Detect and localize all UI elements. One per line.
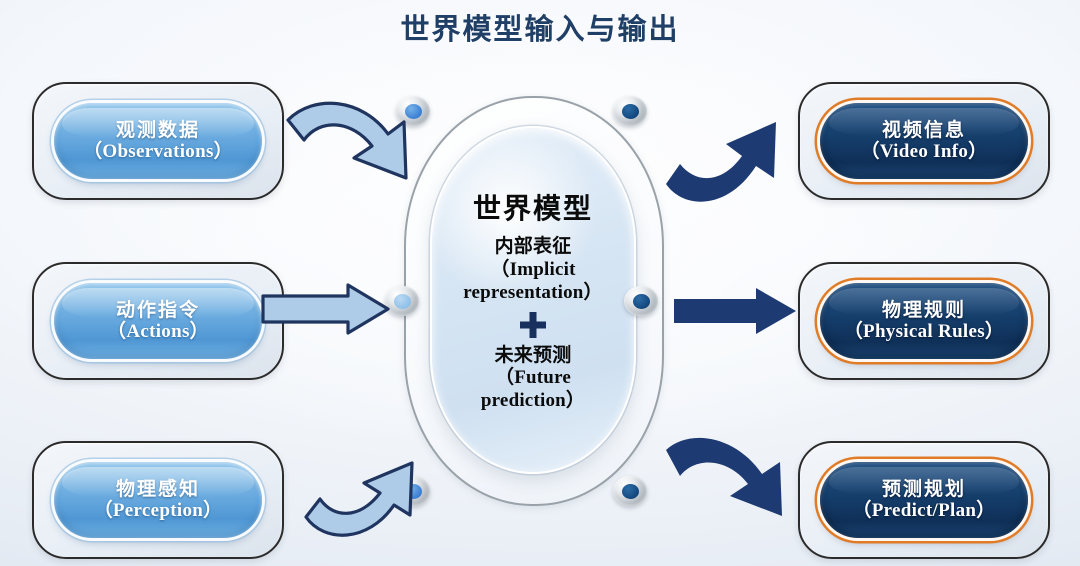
arrow-model-to-physical-rules <box>672 286 798 336</box>
input-box-actions[interactable]: 动作指令 （Actions） <box>32 262 284 380</box>
input-pill-perception: 物理感知 （Perception） <box>54 462 262 538</box>
capsule-implicit-en2: representation） <box>463 282 603 305</box>
plus-icon <box>518 310 548 340</box>
arrow-perception-to-model <box>302 455 430 545</box>
capsule-implicit-en1: （Implicit <box>490 259 575 282</box>
arrow-model-to-predict-plan <box>664 436 798 524</box>
input-label-cn: 观测数据 <box>116 120 200 141</box>
input-label-en: （Observations） <box>83 141 233 162</box>
output-box-physical-rules[interactable]: 物理规则 （Physical Rules） <box>798 262 1050 380</box>
diagram-canvas: 世界模型输入与输出 观测数据 （Observations） 动作指令 （Acti… <box>0 0 1080 566</box>
capsule-future-en2: prediction） <box>481 390 585 413</box>
input-box-observations[interactable]: 观测数据 （Observations） <box>32 82 284 200</box>
capsule-future-en1: （Future <box>495 367 571 390</box>
output-label-cn: 预测规划 <box>882 479 966 500</box>
input-label-cn: 动作指令 <box>116 300 200 321</box>
input-label-cn: 物理感知 <box>116 479 200 500</box>
input-pill-actions: 动作指令 （Actions） <box>54 283 262 359</box>
arrow-actions-to-model <box>260 283 392 335</box>
capsule-node-bottom-right <box>613 476 647 506</box>
capsule-future-cn: 未来预测 <box>495 345 572 368</box>
capsule-inner: 世界模型 内部表征 （Implicit representation） 未来预测… <box>430 126 636 474</box>
output-label-en: （Video Info） <box>861 141 988 162</box>
input-pill-observations: 观测数据 （Observations） <box>54 103 262 179</box>
capsule-node-middle-right <box>624 286 658 316</box>
output-label-en: （Physical Rules） <box>844 321 1005 342</box>
output-pill-physical-rules: 物理规则 （Physical Rules） <box>820 283 1028 359</box>
arrow-observations-to-model <box>284 96 424 188</box>
output-label-en: （Predict/Plan） <box>852 500 995 521</box>
input-label-en: （Actions） <box>107 321 209 342</box>
page-title: 世界模型输入与输出 <box>0 6 1080 48</box>
input-box-perception[interactable]: 物理感知 （Perception） <box>32 441 284 559</box>
output-box-video-info[interactable]: 视频信息 （Video Info） <box>798 82 1050 200</box>
output-pill-video-info: 视频信息 （Video Info） <box>820 103 1028 179</box>
world-model-capsule[interactable]: 世界模型 内部表征 （Implicit representation） 未来预测… <box>386 88 682 514</box>
input-label-en: （Perception） <box>94 500 223 521</box>
output-pill-predict-plan: 预测规划 （Predict/Plan） <box>820 462 1028 538</box>
arrow-model-to-video-info <box>664 110 794 210</box>
output-label-cn: 物理规则 <box>882 300 966 321</box>
output-box-predict-plan[interactable]: 预测规划 （Predict/Plan） <box>798 441 1050 559</box>
capsule-node-top-right <box>613 96 647 126</box>
capsule-implicit-cn: 内部表征 <box>495 236 572 259</box>
output-label-cn: 视频信息 <box>882 120 966 141</box>
capsule-title: 世界模型 <box>473 187 593 227</box>
